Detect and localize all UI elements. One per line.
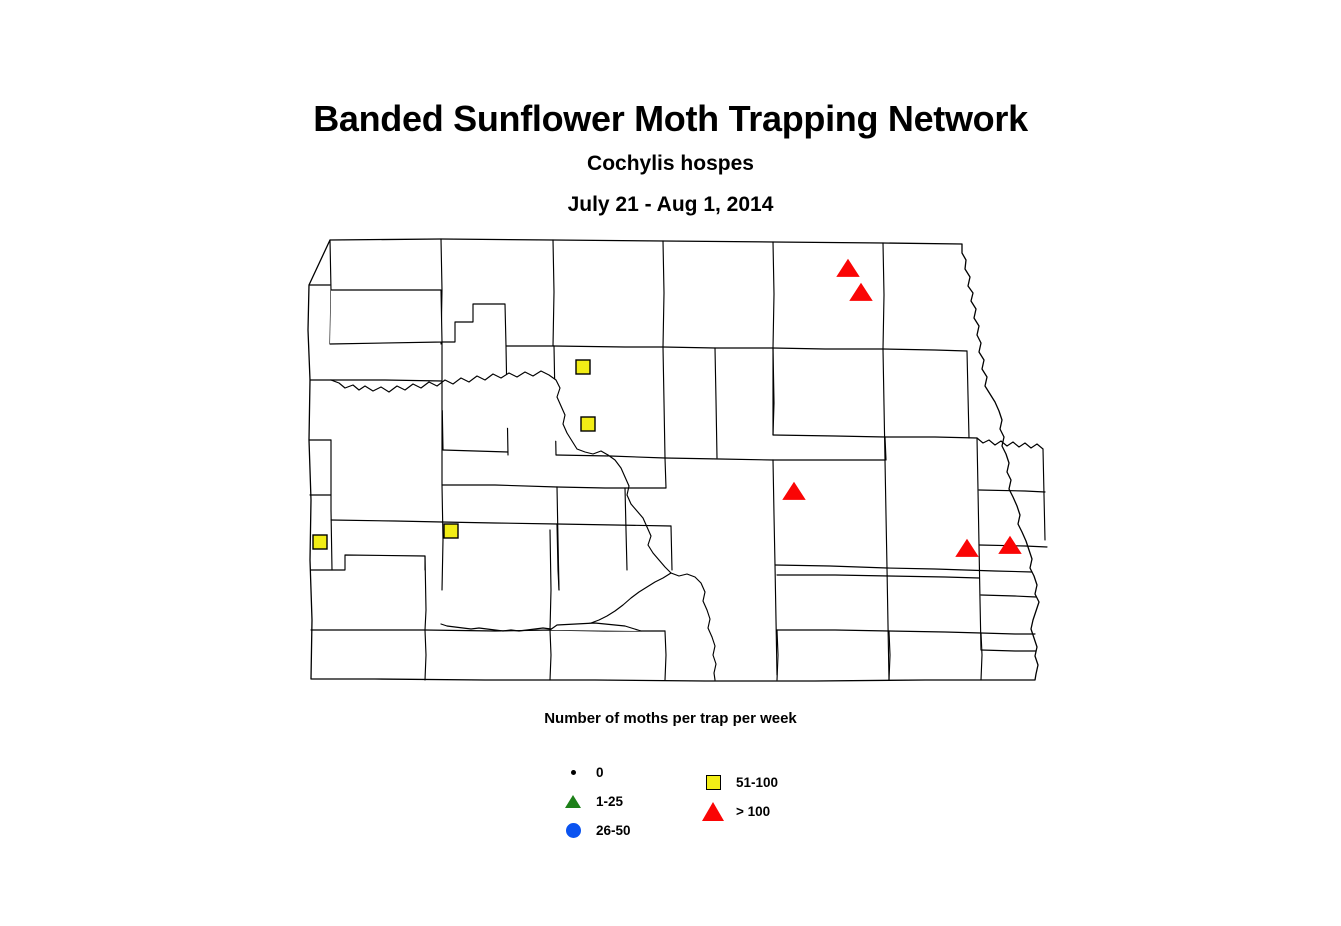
moth-trapping-map-page: Banded Sunflower Moth Trapping Network C… — [0, 0, 1341, 926]
legend-label-over-100: > 100 — [736, 804, 770, 819]
trap-marker-square[interactable] — [444, 524, 458, 538]
legend-label-0: 0 — [596, 765, 604, 780]
blue-circle-icon — [560, 823, 586, 838]
dot-icon — [560, 770, 586, 775]
species-subtitle: Cochylis hospes — [0, 152, 1341, 176]
red-triangle-icon — [700, 802, 726, 821]
date-range-subtitle: July 21 - Aug 1, 2014 — [0, 193, 1341, 217]
county-r4c2-e — [442, 485, 443, 590]
legend-column-left: 0 1-25 26-50 — [560, 758, 631, 845]
ne-line-c — [1043, 449, 1045, 540]
county-boundaries — [308, 239, 1047, 681]
trap-marker-square[interactable] — [313, 535, 327, 549]
s-row-e3 — [665, 631, 666, 680]
county-r1c4-e — [773, 242, 774, 348]
trap-marker-square[interactable] — [581, 417, 595, 431]
yellow-square-icon — [700, 775, 726, 790]
s-row-e4 — [777, 630, 778, 680]
north-dakota-county-map[interactable] — [295, 230, 1055, 695]
s-row-e6 — [981, 633, 982, 680]
page-title: Banded Sunflower Moth Trapping Network — [0, 98, 1341, 140]
legend-label-26-50: 26-50 — [596, 823, 631, 838]
s-row-e2 — [550, 630, 551, 680]
legend-column-right: 51-100 > 100 — [700, 768, 778, 826]
county-r1c3-e — [663, 241, 664, 347]
legend-item-26-50[interactable]: 26-50 — [560, 816, 631, 845]
county-r1c5-e — [883, 243, 884, 349]
legend-item-0[interactable]: 0 — [560, 758, 631, 787]
legend-item-51-100[interactable]: 51-100 — [700, 768, 778, 797]
s-row-e1 — [425, 630, 426, 680]
county-r1c2-e — [553, 240, 554, 346]
s-row-e5 — [889, 631, 890, 680]
legend-label-51-100: 51-100 — [736, 775, 778, 790]
legend-title: Number of moths per trap per week — [0, 710, 1341, 727]
legend-item-1-25[interactable]: 1-25 — [560, 787, 631, 816]
legend-item-over-100[interactable]: > 100 — [700, 797, 778, 826]
legend-label-1-25: 1-25 — [596, 794, 623, 809]
green-triangle-icon — [560, 795, 586, 808]
trap-marker-square[interactable] — [576, 360, 590, 374]
row1-south-b — [330, 290, 442, 344]
